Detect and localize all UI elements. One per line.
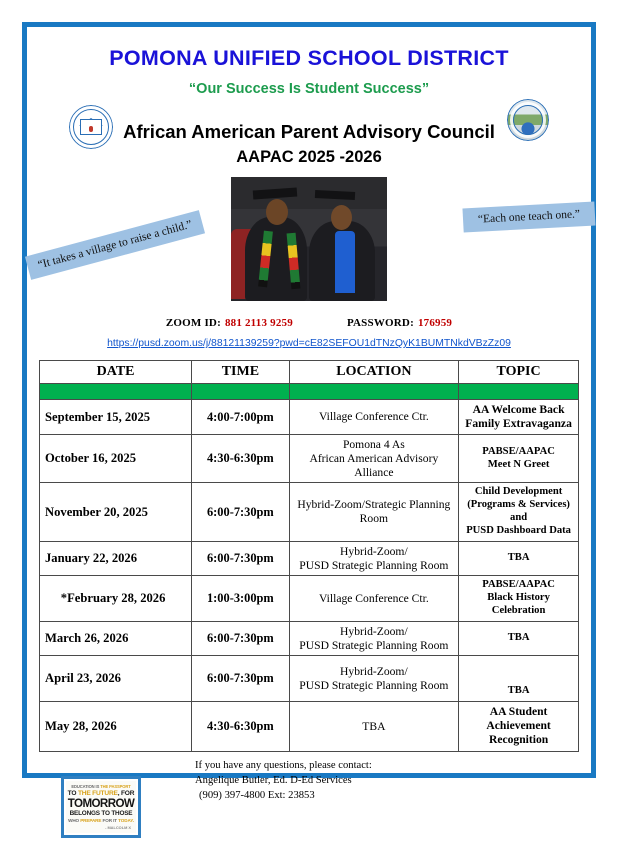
table-row: *February 28, 20261:00-3:00pmVillage Con…: [40, 576, 579, 622]
cell-topic: TBA: [459, 541, 579, 575]
table-row: September 15, 20254:00-7:00pmVillage Con…: [40, 400, 579, 435]
malcolm-x-quote-poster: EDUCATION IS THE PASSPORT TO THE FUTURE,…: [61, 776, 141, 838]
table-row: November 20, 20256:00-7:30pmHybrid-Zoom/…: [40, 483, 579, 542]
schedule-table: DATE TIME LOCATION TOPIC September 15,: [39, 360, 579, 752]
contact-line-3: (909) 397-4800 Ext: 23853: [195, 788, 372, 803]
cell-topic: PABSE/AAPACMeet N Greet: [459, 435, 579, 483]
cell-location: Hybrid-Zoom/Strategic PlanningRoom: [289, 483, 459, 542]
table-row: October 16, 20254:30-6:30pmPomona 4 AsAf…: [40, 435, 579, 483]
blue-border-frame: POMONA UNIFIED SCHOOL DISTRICT “Our Succ…: [22, 22, 596, 778]
zoom-id-value: 881 2113 9259: [221, 317, 293, 329]
district-title: POMONA UNIFIED SCHOOL DISTRICT: [27, 46, 591, 71]
poster-line5c: FOR IT: [101, 818, 118, 823]
district-motto: “Our Success Is Student Success”: [27, 81, 591, 97]
cell-date: March 26, 2026: [40, 622, 192, 656]
cell-time: 1:00-3:00pm: [192, 576, 289, 622]
cell-location: Village Conference Ctr.: [289, 576, 459, 622]
cell-date: May 28, 2026: [40, 702, 192, 751]
cell-date: April 23, 2026: [40, 656, 192, 702]
cell-location: Village Conference Ctr.: [289, 400, 459, 435]
graduation-photo: [231, 177, 387, 301]
cell-location: Hybrid-Zoom/PUSD Strategic Planning Room: [289, 622, 459, 656]
cell-topic: AA StudentAchievementRecognition: [459, 702, 579, 751]
cell-topic: PABSE/AAPACBlack History Celebration: [459, 576, 579, 622]
cell-location: TBA: [289, 702, 459, 751]
cell-topic: TBA: [459, 656, 579, 702]
table-row: January 22, 20266:00-7:30pmHybrid-Zoom/P…: [40, 541, 579, 575]
contact-line-2: Angelique Butler, Ed. D-Ed Services: [195, 773, 372, 788]
cell-topic: Child Development(Programs & Services) a…: [459, 483, 579, 542]
cell-date: January 22, 2026: [40, 541, 192, 575]
cell-date: *February 28, 2026: [40, 576, 192, 622]
cell-date: September 15, 2025: [40, 400, 192, 435]
zoom-password-label: PASSWORD:: [347, 317, 414, 329]
column-header-location: LOCATION: [289, 361, 459, 384]
poster-line3: TOMORROW: [66, 798, 136, 810]
cell-date: November 20, 2025: [40, 483, 192, 542]
column-header-topic: TOPIC: [459, 361, 579, 384]
table-row: March 26, 20266:00-7:30pmHybrid-Zoom/PUS…: [40, 622, 579, 656]
cell-location: Pomona 4 AsAfrican American AdvisoryAlli…: [289, 435, 459, 483]
poster-line2a: TO: [68, 790, 78, 797]
flyer-page: POMONA UNIFIED SCHOOL DISTRICT “Our Succ…: [0, 0, 618, 800]
council-header: African American Parent Advisory Council…: [27, 103, 591, 175]
poster-line5b: PREPARE: [80, 818, 101, 823]
zoom-meeting-link[interactable]: https://pusd.zoom.us/j/88121139259?pwd=c…: [27, 338, 591, 349]
council-year: AAPAC 2025 -2026: [27, 148, 591, 167]
photo-quote-band: “It takes a village to raise a child.” “…: [27, 177, 591, 305]
cell-time: 4:30-6:30pm: [192, 435, 289, 483]
cell-location: Hybrid-Zoom/PUSD Strategic Planning Room: [289, 656, 459, 702]
contact-line-1: If you have any questions, please contac…: [195, 758, 372, 773]
schedule-table-wrapper: DATE TIME LOCATION TOPIC September 15,: [39, 360, 579, 752]
poster-line5a: WHO: [68, 818, 80, 823]
poster-line1b: THE PASSPORT: [99, 784, 130, 789]
poster-line4: BELONGS TO THOSE: [66, 810, 136, 817]
poster-line2b: THE FUTURE: [78, 790, 118, 797]
table-header-row: DATE TIME LOCATION TOPIC: [40, 361, 579, 384]
cell-location: Hybrid-Zoom/PUSD Strategic Planning Room: [289, 541, 459, 575]
contact-info: If you have any questions, please contac…: [195, 758, 372, 803]
zoom-credentials: ZOOM ID:881 2113 9259PASSWORD:176959: [27, 317, 591, 329]
cell-topic: TBA: [459, 622, 579, 656]
column-header-time: TIME: [192, 361, 289, 384]
cell-time: 6:00-7:30pm: [192, 541, 289, 575]
table-row: April 23, 20266:00-7:30pmHybrid-Zoom/PUS…: [40, 656, 579, 702]
cell-topic: AA Welcome BackFamily Extravaganza: [459, 400, 579, 435]
zoom-id-label: ZOOM ID:: [166, 317, 221, 329]
table-row: May 28, 20264:30-6:30pmTBAAA StudentAchi…: [40, 702, 579, 751]
zoom-password-value: 176959: [414, 317, 452, 329]
poster-line5d: TODAY.: [118, 818, 134, 823]
poster-line1a: EDUCATION IS: [71, 784, 99, 789]
green-divider-row: [40, 384, 579, 400]
cell-date: October 16, 2025: [40, 435, 192, 483]
quote-right: “Each one teach one.”: [462, 202, 595, 233]
column-header-date: DATE: [40, 361, 192, 384]
cell-time: 4:30-6:30pm: [192, 702, 289, 751]
cell-time: 6:00-7:30pm: [192, 622, 289, 656]
poster-line2c: , FOR: [118, 790, 135, 797]
poster-attribution: - MALCOLM X: [66, 825, 136, 830]
cell-time: 4:00-7:00pm: [192, 400, 289, 435]
cell-time: 6:00-7:30pm: [192, 483, 289, 542]
council-title: African American Parent Advisory Council: [27, 121, 591, 143]
cell-time: 6:00-7:30pm: [192, 656, 289, 702]
quote-left: “It takes a village to raise a child.”: [25, 210, 205, 280]
